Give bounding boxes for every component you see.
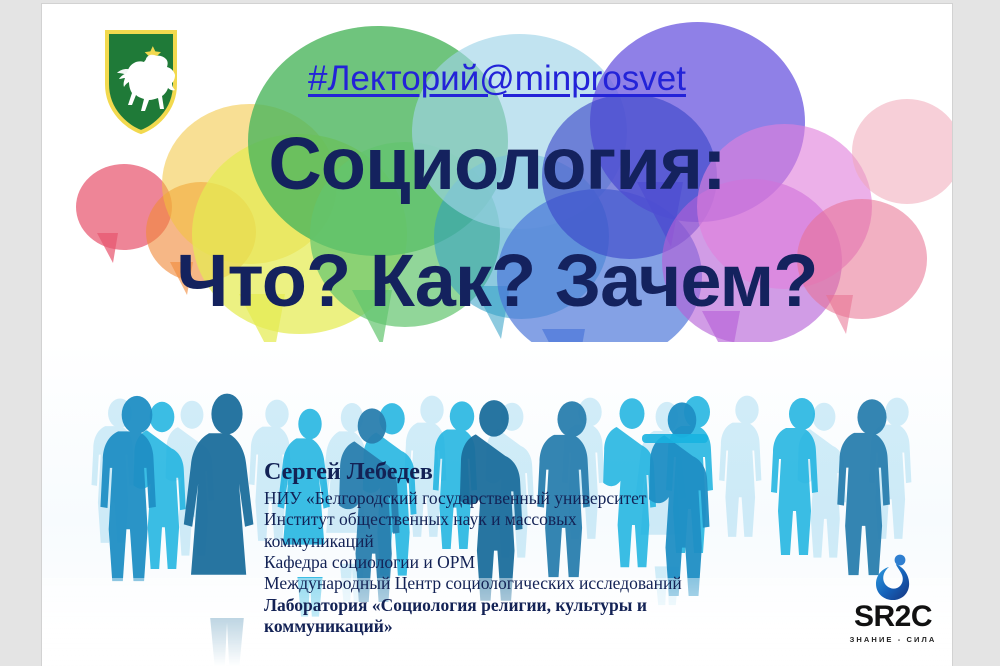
speaker-affiliation-block: Сергей Лебедев НИУ «Белгородский государ… <box>264 459 824 637</box>
presentation-slide: #Лекторий@minprosvet Социология: Что? Ка… <box>42 4 952 666</box>
slide-title-line-2: Что? Как? Зачем? <box>42 244 952 318</box>
affiliation-lines: НИУ «Белгородский государственный универ… <box>264 488 824 637</box>
speaker-name: Сергей Лебедев <box>264 459 824 486</box>
sr2c-wordmark: SR2C <box>838 602 948 632</box>
affiliation-line: Лаборатория «Социология религии, культур… <box>264 595 824 616</box>
slide-title-line-1: Социология: <box>42 127 952 201</box>
affiliation-line: НИУ «Белгородский государственный универ… <box>264 488 824 509</box>
affiliation-line: Международный Центр социологических иссл… <box>264 573 824 594</box>
affiliation-line: коммуникаций <box>264 531 824 552</box>
slide-canvas: #Лекторий@minprosvet Социология: Что? Ка… <box>0 0 1000 666</box>
water-drop-icon <box>838 552 948 600</box>
sr2c-logo: SR2C ЗНАНИЕ - СИЛА <box>838 552 948 644</box>
affiliation-line: Кафедра социологии и ОРМ <box>264 552 824 573</box>
sr2c-tagline: ЗНАНИЕ - СИЛА <box>838 635 948 644</box>
affiliation-line: Институт общественных наук и массовых <box>264 509 824 530</box>
affiliation-line: коммуникаций» <box>264 616 824 637</box>
hashtag-link[interactable]: #Лекторий@minprosvet <box>42 59 952 99</box>
